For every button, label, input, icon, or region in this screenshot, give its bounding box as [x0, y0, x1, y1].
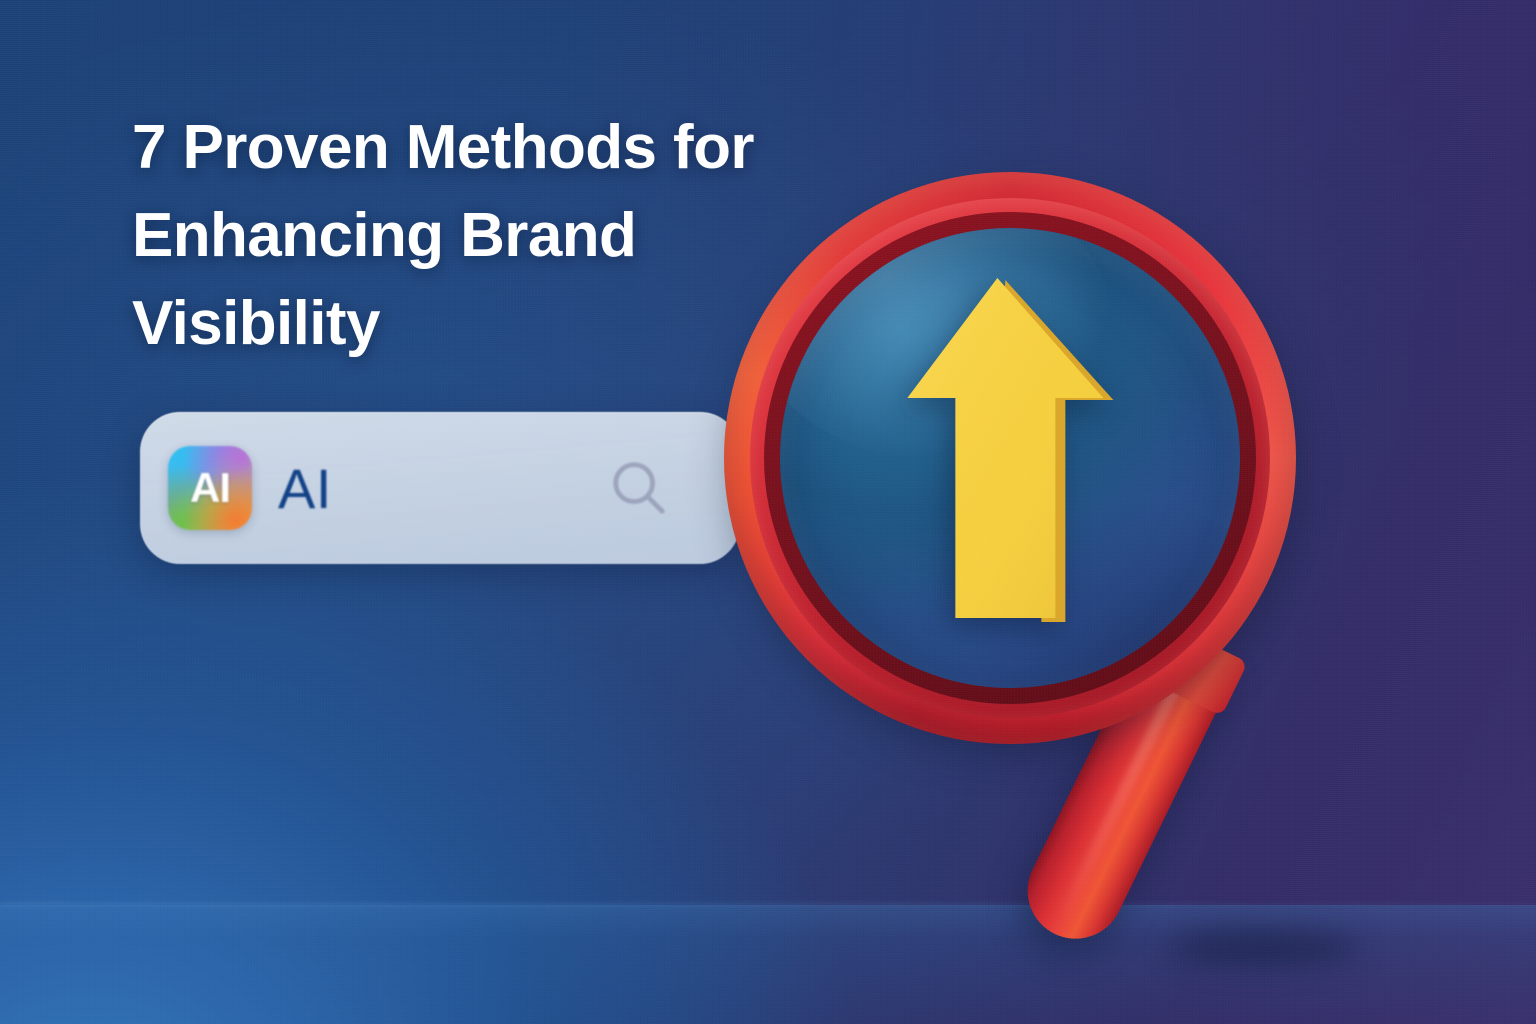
ai-gradient-badge-icon: AI — [168, 446, 252, 530]
up-arrow-icon — [889, 274, 1121, 634]
magnifier-lens — [780, 228, 1240, 688]
magnifier-icon — [724, 172, 1296, 744]
handle-contact-shadow — [1168, 930, 1358, 966]
hero-banner: 7 Proven Methods for Enhancing Brand Vis… — [0, 0, 1536, 1024]
search-bar[interactable]: AI AI — [140, 412, 740, 564]
floor-plane — [0, 905, 1536, 1024]
ai-badge-label: AI — [168, 446, 252, 530]
search-icon[interactable] — [608, 457, 670, 519]
search-input[interactable]: AI — [278, 456, 332, 521]
